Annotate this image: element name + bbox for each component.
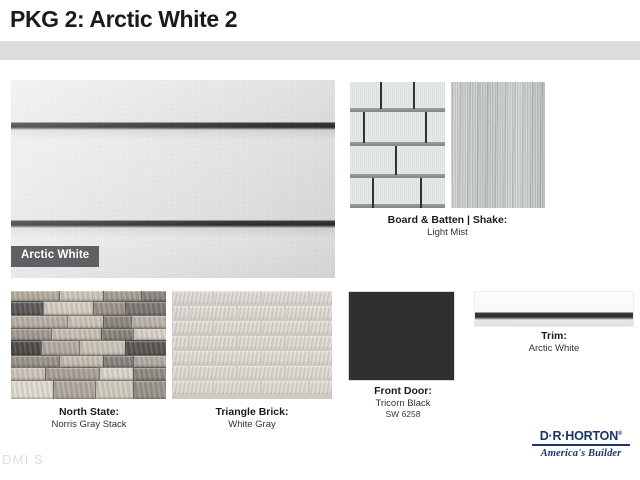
- brick-unit: [262, 381, 308, 394]
- shake-seam: [363, 112, 365, 143]
- stone-unit: [11, 380, 55, 399]
- brick-unit: [172, 321, 212, 334]
- brick-unit: [214, 381, 260, 394]
- stone-unit: [133, 380, 166, 399]
- brick-unit: [172, 306, 188, 319]
- watermark-text: DMI S: [2, 452, 44, 467]
- brick-unit: [310, 291, 332, 304]
- logo-brand-name: D·R·HORTON®: [532, 430, 630, 446]
- stone-unit: [131, 315, 166, 329]
- brick-unit: [238, 306, 284, 319]
- brick-unit: [286, 336, 332, 349]
- caption-title: Trim:: [470, 330, 638, 343]
- shake-seam: [413, 82, 415, 109]
- caption-subtitle: White Gray: [170, 419, 334, 431]
- logo-tagline: America's Builder: [532, 448, 630, 459]
- stone-unit: [53, 380, 97, 399]
- brick-unit: [172, 366, 188, 379]
- slide-canvas: PKG 2: Arctic White 2 Arctic White Board…: [0, 0, 640, 480]
- stone-unit: [41, 340, 81, 356]
- brick-unit: [172, 381, 212, 394]
- caption-trim: Trim: Arctic White: [470, 330, 638, 354]
- brick-unit: [214, 291, 260, 304]
- caption-subtitle: Tricorn Black: [340, 398, 466, 410]
- stone-unit: [103, 315, 133, 329]
- stone-unit: [45, 367, 101, 381]
- stone-unit: [125, 340, 166, 356]
- caption-subtitle: Arctic White: [470, 343, 638, 355]
- stone-unit: [95, 380, 135, 399]
- stone-unit: [133, 367, 166, 381]
- brick-unit: [214, 321, 260, 334]
- caption-triangle-brick: Triangle Brick: White Gray: [170, 406, 334, 430]
- shake-seam: [380, 82, 382, 109]
- shake-seam: [395, 146, 397, 175]
- swatch-board-batten-light-mist[interactable]: [451, 82, 545, 208]
- shake-seam: [425, 112, 427, 143]
- caption-title: Triangle Brick:: [170, 406, 334, 419]
- brick-unit: [190, 306, 236, 319]
- brick-unit: [172, 291, 212, 304]
- shake-seam: [420, 178, 422, 208]
- caption-title: Board & Batten | Shake:: [345, 214, 550, 227]
- swatch-north-state-stone[interactable]: [11, 291, 166, 399]
- shake-row: [350, 82, 445, 112]
- brick-unit: [310, 321, 332, 334]
- brick-unit: [262, 321, 308, 334]
- dr-horton-logo: D·R·HORTON® America's Builder: [532, 430, 630, 459]
- brick-unit: [238, 336, 284, 349]
- board-grain-texture: [451, 82, 545, 208]
- brick-unit: [238, 366, 284, 379]
- brick-unit: [190, 366, 236, 379]
- status-badge-arctic-white: Arctic White: [11, 246, 99, 267]
- stone-unit: [11, 315, 69, 329]
- brick-unit: [286, 366, 332, 379]
- stone-unit: [11, 301, 45, 316]
- caption-color-code: SW 6258: [340, 409, 466, 419]
- stone-unit: [11, 367, 47, 381]
- brick-unit: [190, 336, 236, 349]
- caption-title: North State:: [8, 406, 170, 419]
- stone-unit: [125, 301, 166, 316]
- stone-unit: [79, 340, 127, 356]
- stone-unit: [43, 301, 95, 316]
- brick-unit: [262, 291, 308, 304]
- caption-subtitle: Light Mist: [345, 227, 550, 239]
- brick-unit: [286, 306, 332, 319]
- caption-front-door: Front Door: Tricorn Black SW 6258: [340, 385, 466, 420]
- caption-board-batten-shake: Board & Batten | Shake: Light Mist: [345, 214, 550, 238]
- header-divider-band: [0, 41, 640, 60]
- swatch-front-door-tricorn-black[interactable]: [348, 291, 455, 381]
- stone-unit: [99, 367, 135, 381]
- shake-row: [350, 146, 445, 178]
- caption-subtitle: Norris Gray Stack: [8, 419, 170, 431]
- stone-unit: [67, 315, 105, 329]
- swatch-trim-arctic-white[interactable]: [474, 291, 634, 327]
- logo-trademark-icon: ®: [618, 431, 622, 437]
- brick-unit: [172, 336, 188, 349]
- brick-unit: [172, 351, 212, 364]
- brick-unit: [310, 381, 332, 394]
- shake-row: [350, 178, 445, 208]
- swatch-shake-light-mist[interactable]: [350, 82, 445, 208]
- caption-title: Front Door:: [340, 385, 466, 398]
- brick-unit: [310, 351, 332, 364]
- stone-unit: [93, 301, 127, 316]
- caption-north-state: North State: Norris Gray Stack: [8, 406, 170, 430]
- swatch-triangle-brick[interactable]: [172, 291, 332, 399]
- page-title: PKG 2: Arctic White 2: [10, 6, 237, 33]
- shake-seam: [372, 178, 374, 208]
- brick-unit: [214, 351, 260, 364]
- stone-unit: [11, 340, 43, 356]
- brick-unit: [262, 351, 308, 364]
